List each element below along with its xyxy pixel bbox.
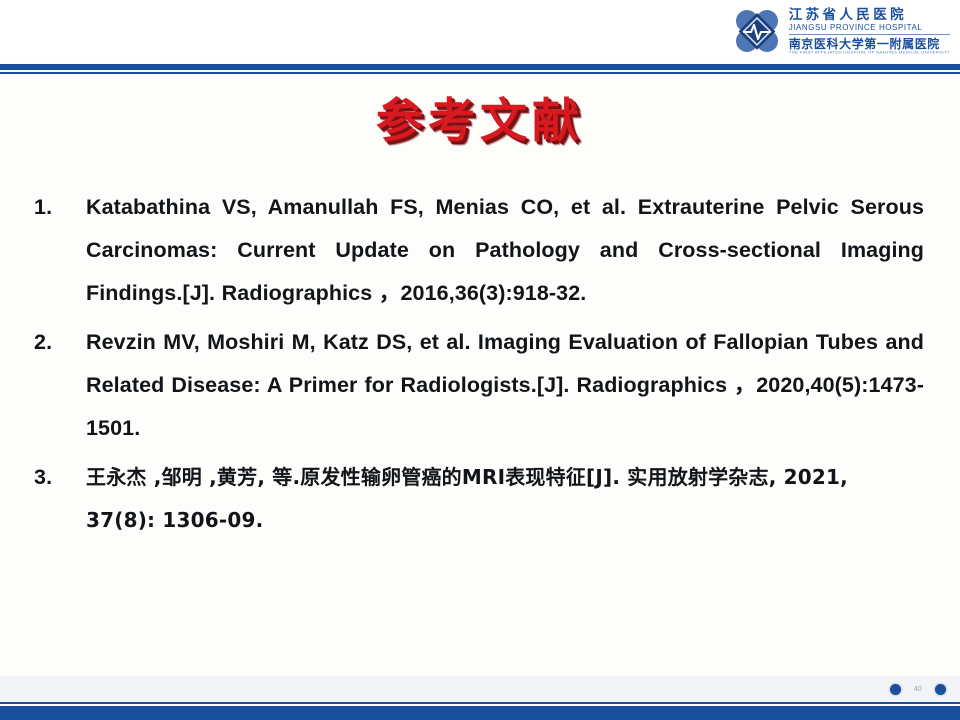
reference-text: Katabathina VS, Amanullah FS, Menias CO,… bbox=[86, 186, 924, 315]
reference-number: 3. bbox=[34, 456, 86, 499]
hospital-logo-icon bbox=[732, 7, 782, 57]
list-item: 3. 王永杰 ,邹明 ,黄芳, 等.原发性输卵管癌的MRI表现特征[J]. 实用… bbox=[34, 456, 924, 542]
page-title-container: 参考文献 bbox=[0, 82, 960, 151]
list-item: 2. Revzin MV, Moshiri M, Katz DS, et al.… bbox=[34, 321, 924, 450]
hospital-logo-text: 江苏省人民医院 JIANGSU PROVINCE HOSPITAL 南京医科大学… bbox=[789, 8, 950, 55]
page-number: 40 bbox=[914, 686, 922, 693]
reference-number: 2. bbox=[34, 321, 86, 364]
pager-dot-left-icon[interactable] bbox=[890, 684, 901, 695]
hospital-logo: 江苏省人民医院 JIANGSU PROVINCE HOSPITAL 南京医科大学… bbox=[732, 6, 950, 58]
footer-rule-thin bbox=[0, 702, 960, 704]
slide-header: 江苏省人民医院 JIANGSU PROVINCE HOSPITAL 南京医科大学… bbox=[0, 0, 960, 62]
reference-text: 王永杰 ,邹明 ,黄芳, 等.原发性输卵管癌的MRI表现特征[J]. 实用放射学… bbox=[86, 456, 924, 542]
hospital-name-en: JIANGSU PROVINCE HOSPITAL bbox=[789, 24, 950, 35]
reference-text: Revzin MV, Moshiri M, Katz DS, et al. Im… bbox=[86, 321, 924, 450]
header-rule-thin bbox=[0, 72, 960, 74]
hospital-subname-cn: 南京医科大学第一附属医院 bbox=[789, 38, 950, 50]
list-item: 1. Katabathina VS, Amanullah FS, Menias … bbox=[34, 186, 924, 315]
reference-number: 1. bbox=[34, 186, 86, 229]
slide-canvas: 江苏省人民医院 JIANGSU PROVINCE HOSPITAL 南京医科大学… bbox=[0, 0, 960, 720]
page-title: 参考文献 bbox=[376, 82, 584, 151]
hospital-name-cn: 江苏省人民医院 bbox=[789, 8, 950, 22]
reference-list: 1. Katabathina VS, Amanullah FS, Menias … bbox=[34, 186, 924, 548]
pager-dot-right-icon[interactable] bbox=[935, 684, 946, 695]
footer-bar bbox=[0, 706, 960, 720]
slide-pager[interactable]: 40 bbox=[890, 678, 946, 700]
header-rule bbox=[0, 64, 960, 70]
hospital-subname-en: THE FIRST AFFILIATED HOSPITAL OF NANJING… bbox=[789, 51, 950, 55]
footer-strip bbox=[0, 676, 960, 702]
